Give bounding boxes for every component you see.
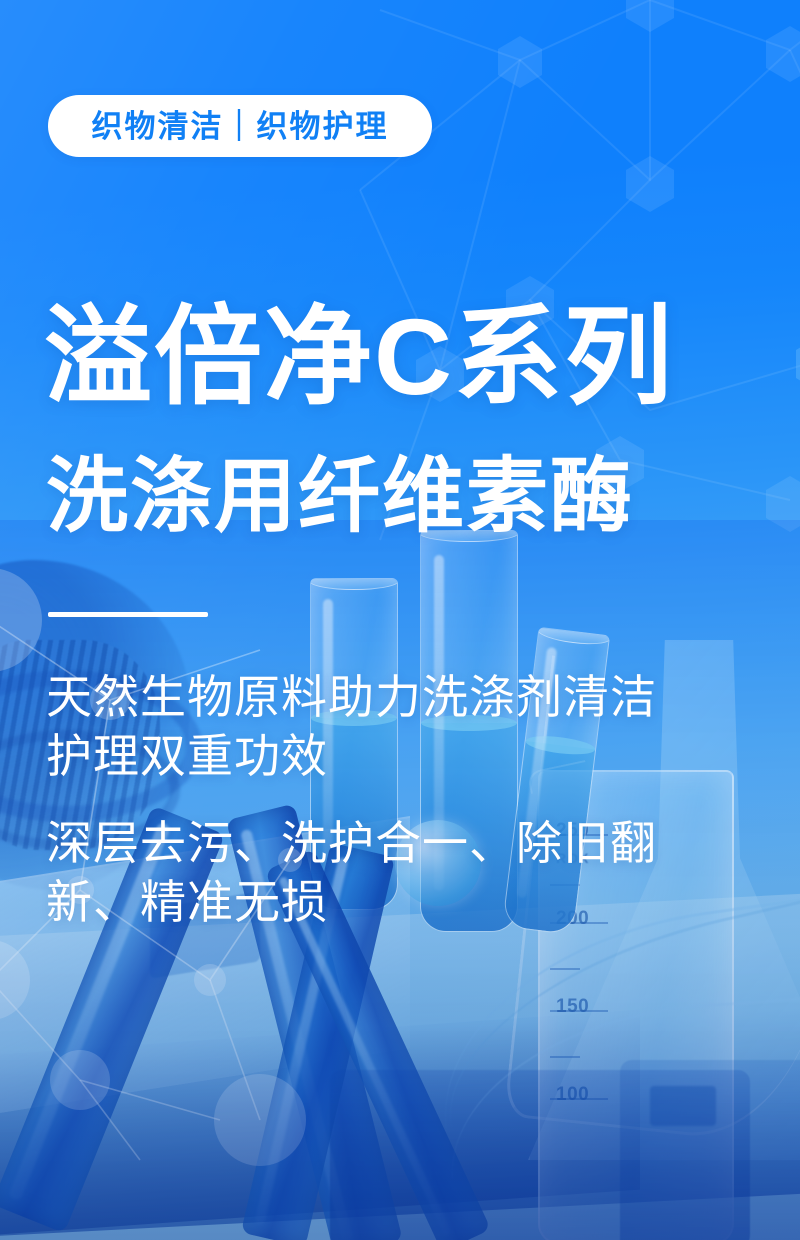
product-description: 天然生物原料助力洗涤剂清洁护理双重功效 深层去污、洗护合一、除旧翻新、精准无损 — [46, 668, 686, 932]
title-divider — [48, 612, 208, 617]
category-badge-label: 织物清洁｜织物护理 — [92, 111, 389, 142]
description-line-2: 深层去污、洗护合一、除旧翻新、精准无损 — [46, 814, 686, 932]
description-line-1: 天然生物原料助力洗涤剂清洁护理双重功效 — [46, 668, 686, 786]
category-badge[interactable]: 织物清洁｜织物护理 — [48, 95, 432, 157]
poster-content: 织物清洁｜织物护理 溢倍净C系列 洗涤用纤维素酶 天然生物原料助力洗涤剂清洁护理… — [0, 0, 800, 1240]
product-subtitle: 洗涤用纤维素酶 — [46, 452, 634, 542]
product-title: 溢倍净C系列 — [44, 300, 674, 414]
product-banner: 250 ROX 200 150 100 — [0, 0, 800, 1240]
